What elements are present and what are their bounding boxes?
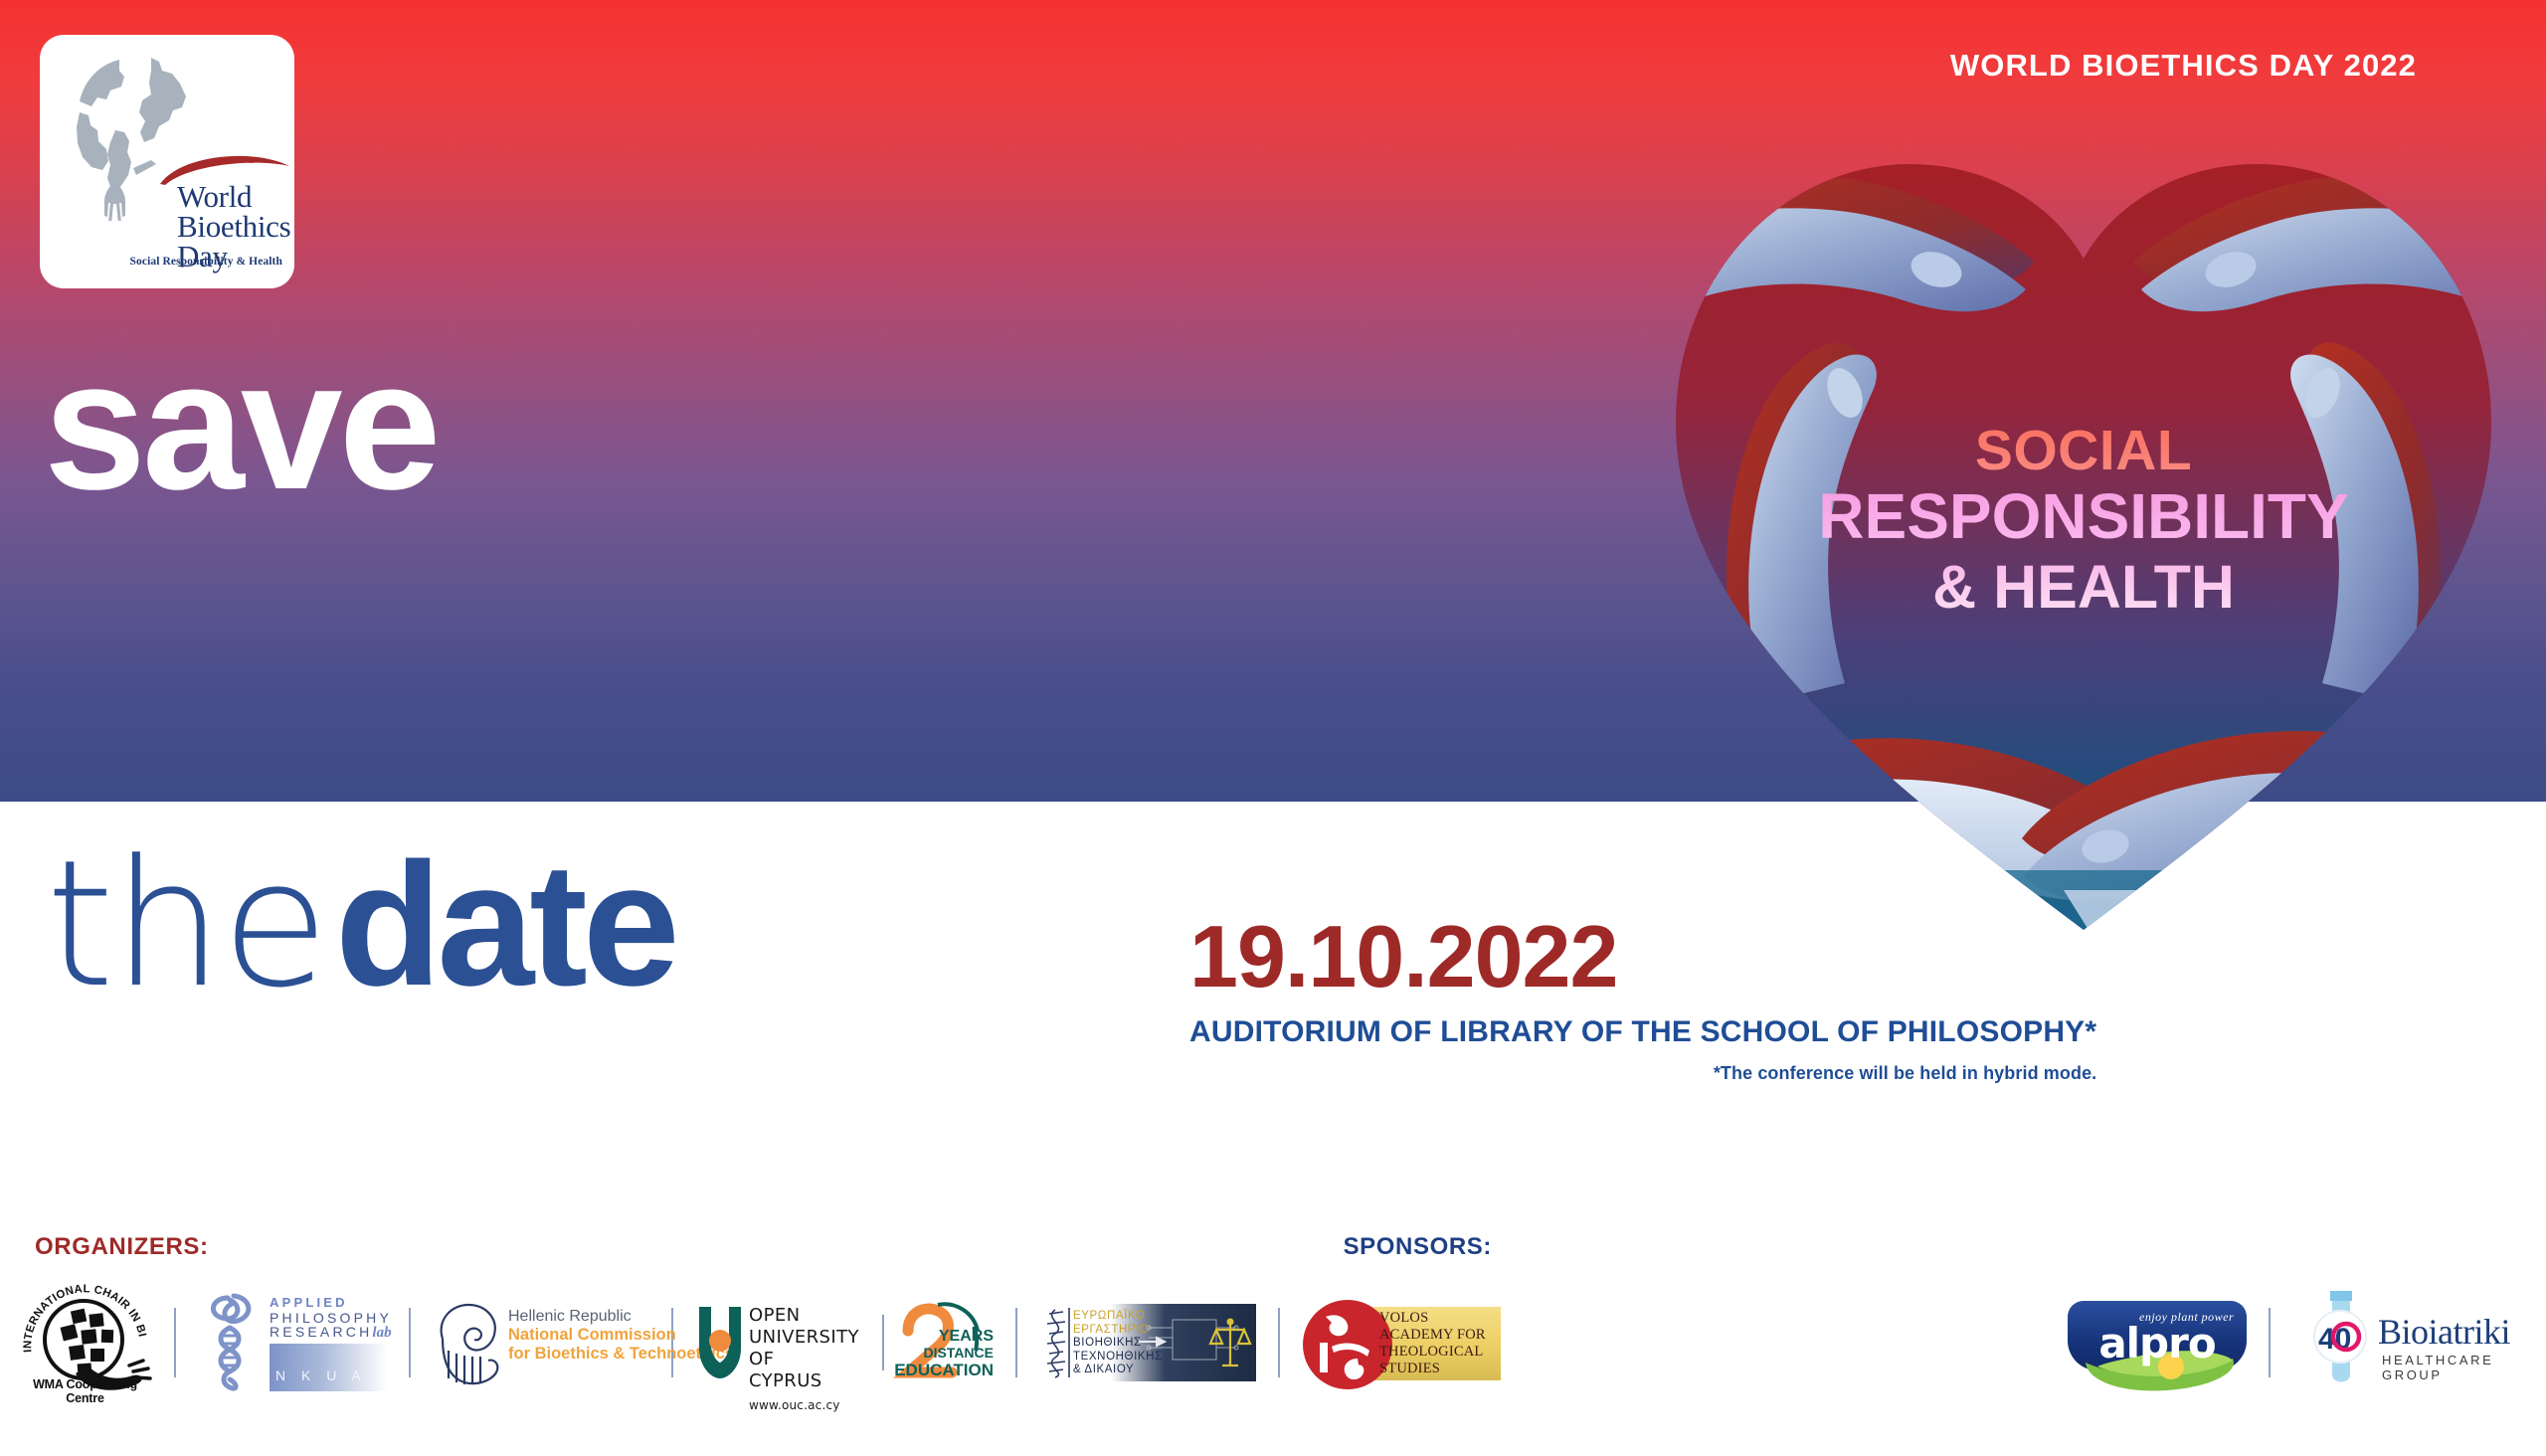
eel-line-5: & ΔΙΚΑΙΟΥ bbox=[1073, 1364, 1163, 1377]
logo-alpro[interactable]: enjoy plant power alpro bbox=[2068, 1287, 2247, 1398]
years-label: YEARS bbox=[894, 1328, 994, 1345]
eel-line-3: ΒΙΟΗΘΙΚΗΣ bbox=[1073, 1337, 1163, 1351]
bioiatriki-wordmark: Bioiatriki bbox=[2378, 1311, 2510, 1353]
logo-international-chair-in-bioethics[interactable]: INTERNATIONAL CHAIR IN BIOETHICS bbox=[18, 1278, 152, 1407]
aprl-institution: N K U A bbox=[275, 1367, 367, 1383]
organizer-logos-row: INTERNATIONAL CHAIR IN BIOETHICS bbox=[18, 1278, 1501, 1407]
volos-line-2: ACADEMY FOR bbox=[1379, 1327, 1501, 1344]
eel-line-2: ΕΡΓΑΣΤΗΡΙΟ bbox=[1073, 1324, 1163, 1338]
headline-save: save bbox=[44, 336, 438, 515]
logo-line-1: World bbox=[177, 182, 294, 212]
ouc-wordmark: OPEN UNIVERSITY OF CYPRUS www.ouc.ac.cy bbox=[749, 1305, 872, 1416]
aprl-wordmark: APPLIED PHILOSOPHY RESEARCHlab bbox=[270, 1296, 392, 1341]
aprl-line-3-text: RESEARCH bbox=[270, 1324, 372, 1340]
headline-the: the bbox=[46, 822, 327, 1026]
world-bioethics-day-logo-card: World Bioethics Day Social Responsibilit… bbox=[40, 35, 294, 288]
volos-line-3: THEOLOGICAL bbox=[1379, 1344, 1501, 1361]
logo-hellenic-national-commission[interactable]: Hellenic Republic National Commission fo… bbox=[433, 1293, 649, 1392]
volos-line-1: VOLOS bbox=[1379, 1310, 1501, 1327]
logo-separator bbox=[1278, 1308, 1280, 1377]
bioiatriki-subtitle: HEALTHCARE GROUP bbox=[2382, 1353, 2521, 1382]
logo-applied-philosophy-research-lab[interactable]: APPLIED PHILOSOPHY RESEARCHlab N K U A bbox=[198, 1288, 387, 1397]
logo-tagline: Social Responsibility & Health bbox=[40, 256, 282, 268]
bioiatriki-test-tube-badge-icon: 40 bbox=[2298, 1287, 2382, 1398]
organizers-label: ORGANIZERS: bbox=[35, 1233, 209, 1261]
volos-wordmark: VOLOS ACADEMY FOR THEOLOGICAL STUDIES bbox=[1379, 1310, 1501, 1377]
ouc-line-2: UNIVERSITY OF bbox=[749, 1327, 872, 1370]
dna-helix-icon bbox=[198, 1288, 268, 1397]
headline-the-date: thedate bbox=[46, 850, 675, 1000]
ouc-website: www.ouc.ac.cy bbox=[749, 1394, 872, 1416]
logo-bioiatriki[interactable]: 40 Bioiatriki HEALTHCARE GROUP bbox=[2292, 1287, 2521, 1398]
ouc-line-1: OPEN bbox=[749, 1305, 872, 1327]
logo-separator bbox=[174, 1308, 176, 1377]
logo-european-lab-bioethics-technoethics-law[interactable]: ΕΥΡΩΠΑΪΚΟ ΕΡΓΑΣΤΗΡΙΟ ΒΙΟΗΘΙΚΗΣ ΤΕΧΝΟΗΘΙΚ… bbox=[1039, 1304, 1256, 1381]
event-title: WORLD BIOETHICS DAY 2022 bbox=[1950, 48, 2417, 84]
event-venue: AUDITORIUM OF LIBRARY OF THE SCHOOL OF P… bbox=[1189, 1015, 2096, 1049]
event-date: 19.10.2022 bbox=[1189, 913, 2096, 1001]
logo-open-university-of-cyprus[interactable]: OPEN UNIVERSITY OF CYPRUS www.ouc.ac.cy … bbox=[695, 1293, 994, 1392]
event-details-block: 19.10.2022 AUDITORIUM OF LIBRARY OF THE … bbox=[1189, 913, 2096, 1084]
sponsors-label: SPONSORS: bbox=[1344, 1233, 1492, 1261]
logo-separator bbox=[882, 1315, 884, 1370]
volos-line-4: STUDIES bbox=[1379, 1361, 1501, 1377]
aprl-lab-word: lab bbox=[372, 1325, 391, 1341]
aprl-line-1: APPLIED bbox=[270, 1296, 392, 1311]
distance-label: DISTANCE bbox=[894, 1345, 994, 1362]
logo-separator bbox=[409, 1308, 411, 1377]
eel-line-1: ΕΥΡΩΠΑΪΚΟ bbox=[1073, 1310, 1163, 1324]
heart-shape-icon bbox=[1646, 94, 2521, 970]
sponsor-logos-row: enjoy plant power alpro 40 Bioiatriki HE… bbox=[2068, 1278, 2521, 1407]
heart-of-hands-graphic: SOCIAL RESPONSIBILITY & HEALTH bbox=[1646, 94, 2521, 970]
logo-line-2: Bioethics bbox=[177, 212, 294, 242]
ouc-emblem-icon bbox=[697, 1305, 743, 1384]
education-label: EDUCATION bbox=[894, 1362, 994, 1378]
ionic-column-spiral-icon bbox=[433, 1299, 504, 1386]
aprl-line-2: PHILOSOPHY bbox=[270, 1311, 392, 1326]
event-note: *The conference will be held in hybrid m… bbox=[1189, 1063, 2096, 1084]
aprl-line-3: RESEARCHlab bbox=[270, 1325, 392, 1341]
logo-separator bbox=[2269, 1308, 2271, 1377]
logo-separator bbox=[1015, 1308, 1017, 1377]
poster-canvas: World Bioethics Day Social Responsibilit… bbox=[0, 0, 2546, 1456]
alpro-wordmark: alpro bbox=[2068, 1319, 2247, 1367]
logo-volos-academy[interactable]: VOLOS ACADEMY FOR THEOLOGICAL STUDIES bbox=[1302, 1295, 1501, 1390]
20-years-text: YEARS DISTANCE EDUCATION bbox=[894, 1328, 994, 1378]
eel-line-4: ΤΕΧΝΟΗΘΙΚΗΣ bbox=[1073, 1351, 1163, 1365]
ouc-line-3: CYPRUS bbox=[749, 1370, 872, 1392]
headline-date: date bbox=[335, 827, 675, 1022]
icb-caption: WMA Cooperating Centre bbox=[18, 1377, 152, 1405]
eel-wordmark: ΕΥΡΩΠΑΪΚΟ ΕΡΓΑΣΤΗΡΙΟ ΒΙΟΗΘΙΚΗΣ ΤΕΧΝΟΗΘΙΚ… bbox=[1073, 1310, 1163, 1377]
